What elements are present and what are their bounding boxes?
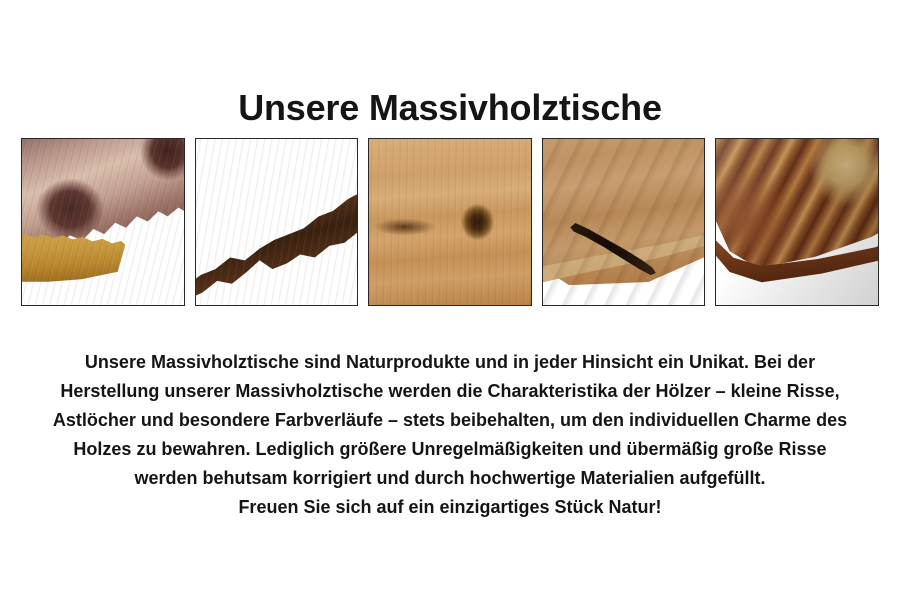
description-line: Astlöcher und besondere Farbverläufe – s… bbox=[0, 406, 900, 435]
wood-image-rough-sawn-filled-crack bbox=[543, 139, 705, 305]
description-line: Freuen Sie sich auf ein einzigartiges St… bbox=[0, 493, 900, 522]
product-description: Unsere Massivholztische sind Naturproduk… bbox=[0, 348, 900, 522]
description-line: werden behutsam korrigiert und durch hoc… bbox=[0, 464, 900, 493]
wood-image-rosewood-beveled-corner bbox=[716, 139, 878, 305]
wood-image-light-wood-live-edge bbox=[196, 139, 358, 305]
wood-sample-panel-5[interactable] bbox=[715, 138, 879, 306]
wood-sample-gallery bbox=[21, 138, 879, 306]
description-line: Unsere Massivholztische sind Naturproduk… bbox=[0, 348, 900, 377]
page-title: Unsere Massivholztische bbox=[0, 88, 900, 128]
description-line: Holzes zu bewahren. Lediglich größere Un… bbox=[0, 435, 900, 464]
wood-sample-panel-4[interactable] bbox=[542, 138, 706, 306]
slab-surface bbox=[369, 139, 531, 305]
description-line: Herstellung unserer Massivholztische wer… bbox=[0, 377, 900, 406]
slab-edge bbox=[22, 232, 125, 282]
wood-image-honey-grain-knot bbox=[369, 139, 531, 305]
product-info-page: Unsere Massivholztische bbox=[0, 0, 900, 600]
wood-sample-panel-2[interactable] bbox=[195, 138, 359, 306]
wood-sample-panel-1[interactable] bbox=[21, 138, 185, 306]
wood-sample-panel-3[interactable] bbox=[368, 138, 532, 306]
wood-image-live-edge-slab-burl bbox=[22, 139, 184, 305]
